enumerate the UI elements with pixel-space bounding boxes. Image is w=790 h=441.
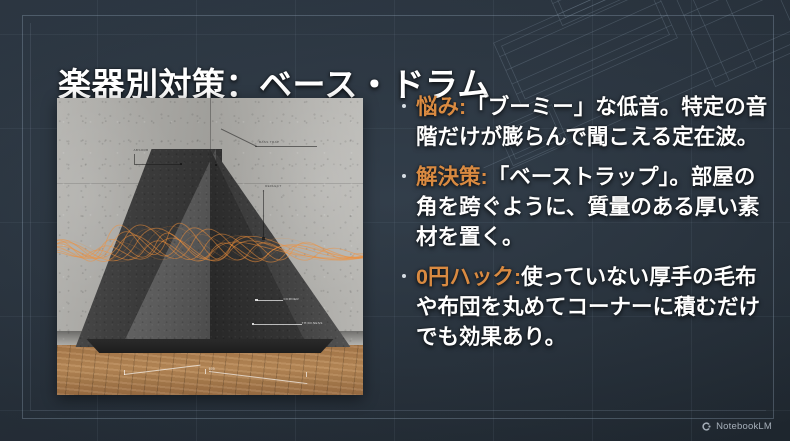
illustration-stage: ABSORB BASS TRAP REFLECT CORNER [57, 98, 363, 395]
notebooklm-logo-icon [701, 421, 712, 432]
bullet-dot-icon [402, 174, 406, 178]
bullet-dot-icon [402, 104, 406, 108]
bullet-keyword: 悩み [416, 95, 459, 119]
bullet-keyword: 0円ハック [416, 265, 514, 289]
bullet-text: 「ブーミー」な低音。特定の音階だけが膨らんで聞こえる定在波。 [416, 95, 767, 149]
list-item: 解決策:「ベーストラップ」。部屋の角を跨ぐように、質量のある厚い素材を置く。 [400, 163, 772, 252]
watermark-label: NotebookLM [716, 421, 772, 432]
bullet-list: 悩み:「ブーミー」な低音。特定の音階だけが膨らんで聞こえる定在波。 解決策:「ベ… [400, 93, 772, 352]
floor-dimension-line: 600 [124, 368, 308, 380]
list-item: 0円ハック:使っていない厚手の毛布や布団を丸めてコーナーに積むだけでも効果あり。 [400, 263, 772, 352]
bass-trap-base [75, 339, 344, 354]
illustration-image: ABSORB BASS TRAP REFLECT CORNER [57, 98, 363, 395]
bullet-separator: : [481, 165, 488, 189]
bullet-keyword: 解決策 [416, 165, 481, 189]
floor-dimension-label: 600 [209, 367, 215, 371]
watermark: NotebookLM [701, 421, 772, 432]
slide-root: 楽器別対策：ベース・ドラム [0, 0, 790, 441]
bullet-dot-icon [402, 274, 406, 278]
sound-wave-visualization [57, 187, 363, 321]
list-item: 悩み:「ブーミー」な低音。特定の音階だけが膨らんで聞こえる定在波。 [400, 93, 772, 152]
